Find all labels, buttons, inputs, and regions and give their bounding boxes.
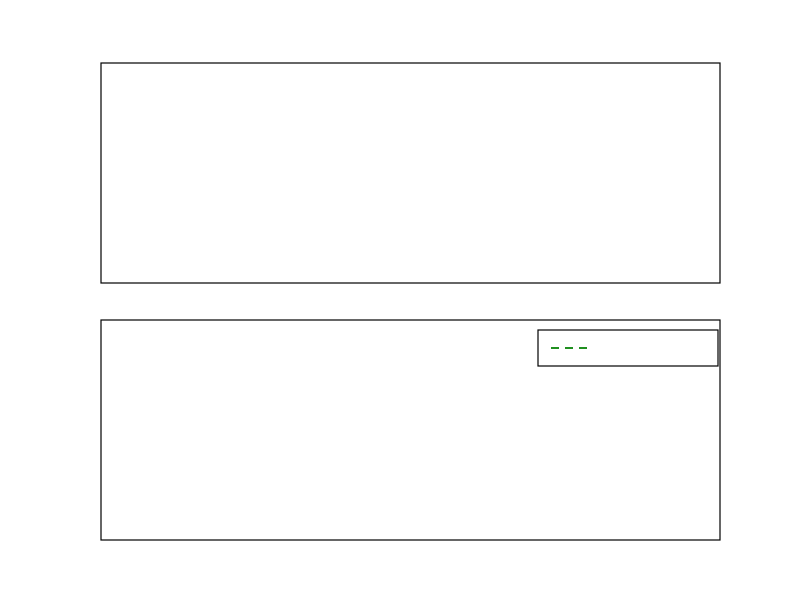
matplotlib-figure <box>0 0 800 600</box>
bottom-axes <box>0 0 720 540</box>
top-axes-frame <box>101 63 720 283</box>
legend[interactable] <box>538 330 718 366</box>
figure-canvas <box>0 0 800 600</box>
top-axes <box>101 63 720 283</box>
